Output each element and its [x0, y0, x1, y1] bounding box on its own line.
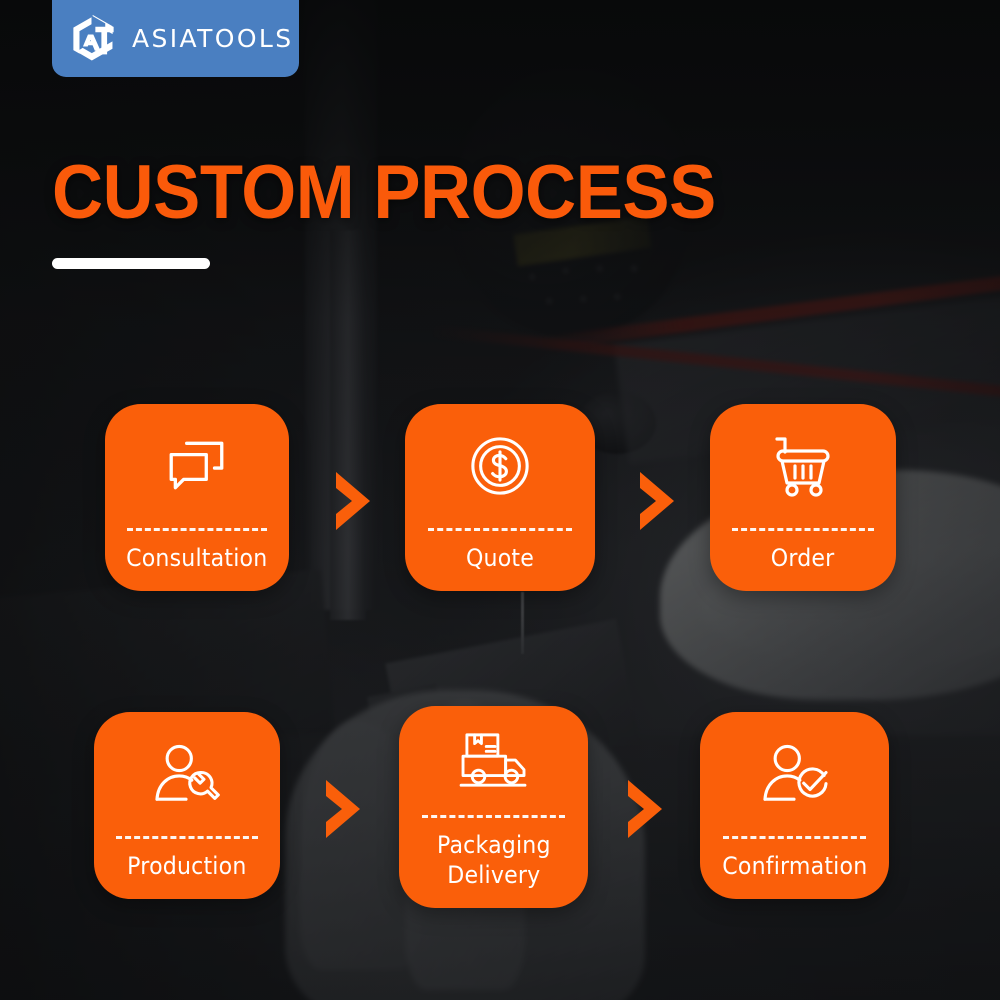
card-divider [127, 528, 267, 531]
chevron-right-icon [322, 778, 364, 840]
process-step-label: Quote [460, 535, 539, 591]
process-step-production[interactable]: Production [94, 712, 280, 899]
delivery-truck-icon [399, 706, 588, 815]
process-step-label: Production [122, 843, 252, 899]
card-divider [723, 836, 867, 839]
process-step-order[interactable]: Order [710, 404, 896, 591]
process-steps: Consultation Quote [0, 0, 1000, 1000]
chat-bubbles-icon [105, 404, 289, 528]
process-step-consultation[interactable]: Consultation [105, 404, 289, 591]
card-divider [732, 528, 873, 531]
card-divider [422, 815, 566, 818]
chevron-right-icon [636, 470, 678, 532]
chevron-right-icon [332, 470, 374, 532]
process-step-packaging-delivery[interactable]: Packaging Delivery [399, 706, 588, 908]
chevron-right-icon [624, 778, 666, 840]
process-step-label: Confirmation [716, 843, 872, 899]
person-wrench-icon [94, 712, 280, 836]
process-step-label: Order [766, 535, 841, 591]
dollar-coin-icon [405, 404, 595, 528]
process-step-label-line1: Packaging [437, 831, 551, 859]
card-divider [428, 528, 572, 531]
process-step-label-line2: Delivery [447, 861, 540, 889]
process-step-confirmation[interactable]: Confirmation [700, 712, 889, 899]
card-divider [116, 836, 257, 839]
process-step-quote[interactable]: Quote [405, 404, 595, 591]
shopping-cart-icon [710, 404, 896, 528]
process-step-label: Packaging Delivery [431, 822, 556, 908]
person-check-icon [700, 712, 889, 836]
process-step-label: Consultation [121, 535, 273, 591]
